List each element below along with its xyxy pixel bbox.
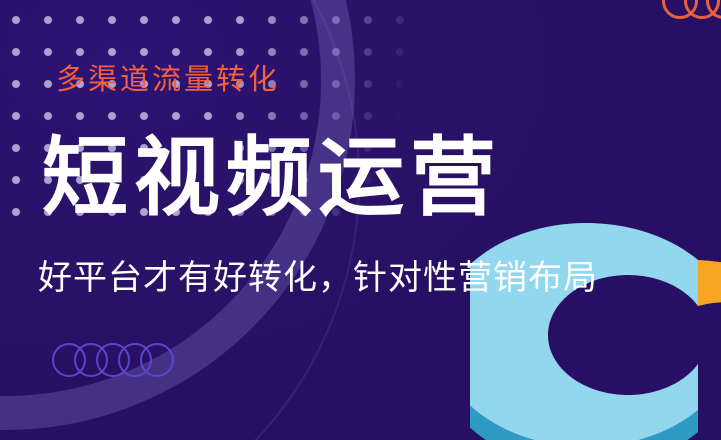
promo-banner: 多渠道流量转化 短视频运营 好平台才有好转化，针对性营销布局 xyxy=(0,0,721,440)
eyebrow-text: 多渠道流量转化 xyxy=(56,66,280,95)
text-content: 多渠道流量转化 短视频运营 好平台才有好转化，针对性营销布局 xyxy=(0,0,721,440)
page-title: 短视频运营 xyxy=(42,132,502,225)
subtitle-text: 好平台才有好转化，针对性营销布局 xyxy=(38,258,598,299)
